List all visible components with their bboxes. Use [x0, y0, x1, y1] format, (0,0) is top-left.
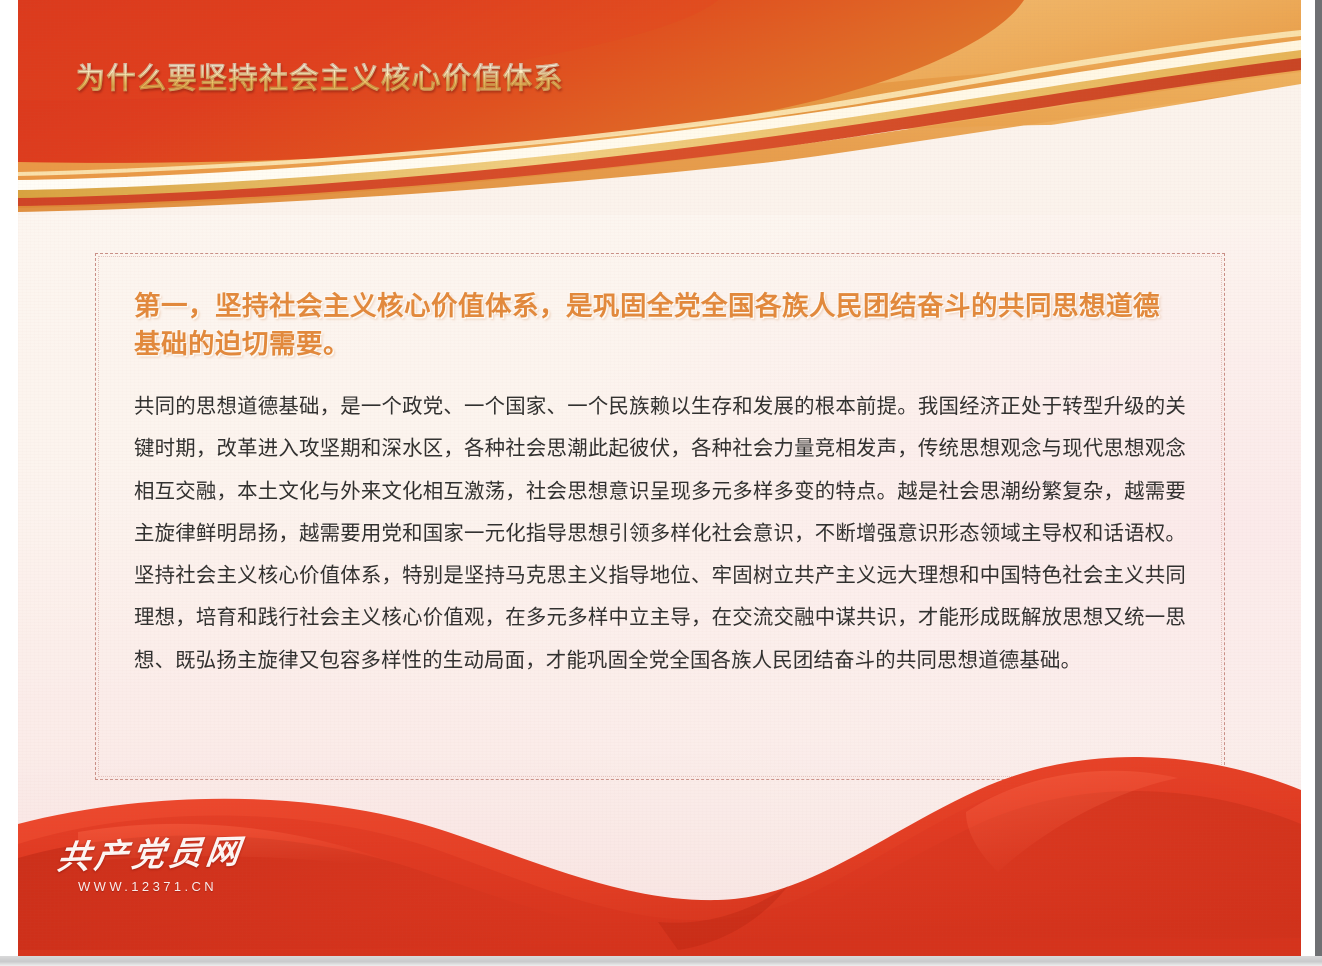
- section-heading: 第一，坚持社会主义核心价值体系，是巩固全党全国各族人民团结奋斗的共同思想道德基础…: [134, 288, 1186, 363]
- footer-banner: 共产党员网 WWW.12371.CN: [18, 686, 1301, 956]
- screenshot-root: 为什么要坚持社会主义核心价值体系 第一，坚持社会主义核心价值体系，是巩固全党全国…: [0, 0, 1322, 966]
- header-ribbon-graphic: [18, 0, 1301, 215]
- bottom-page-edge: [0, 956, 1322, 966]
- logo-url: WWW.12371.CN: [78, 879, 288, 894]
- header-banner: 为什么要坚持社会主义核心价值体系: [18, 0, 1301, 215]
- presentation-slide: 为什么要坚持社会主义核心价值体系 第一，坚持社会主义核心价值体系，是巩固全党全国…: [18, 0, 1301, 956]
- logo-wordmark: 共产党员网: [55, 832, 291, 876]
- site-logo: 共产党员网 WWW.12371.CN: [58, 836, 288, 894]
- body-paragraph: 共同的思想道德基础，是一个政党、一个国家、一个民族赖以生存和发展的根本前提。我国…: [134, 385, 1186, 681]
- right-page-edge: [1315, 0, 1322, 958]
- footer-wave-graphic: [18, 686, 1301, 956]
- page-title: 为什么要坚持社会主义核心价值体系: [76, 63, 564, 95]
